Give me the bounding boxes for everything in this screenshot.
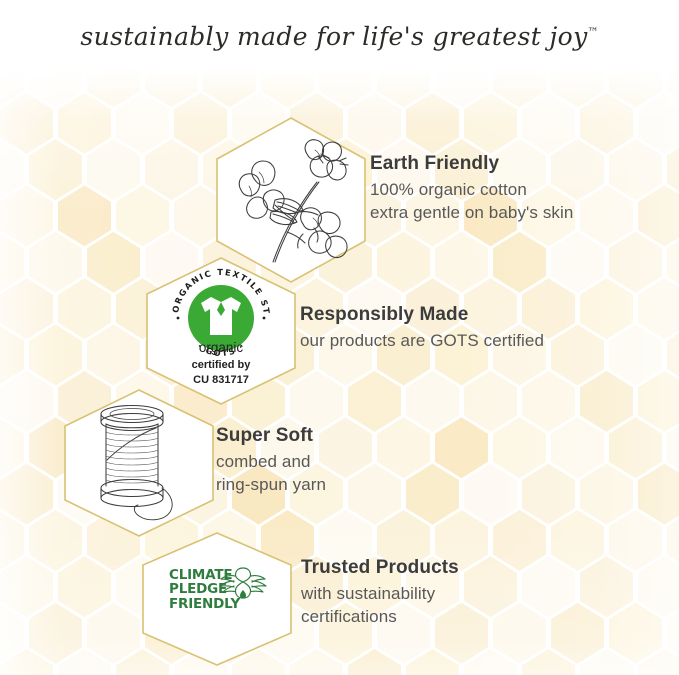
climate-pledge-wordmark: CLIMATE PLEDGE FRIENDLY: [169, 568, 240, 611]
gots-caption-block: organic certified by CU 831717: [146, 338, 296, 387]
feature-line: combed and: [216, 450, 326, 473]
cpf-line-1: CLIMATE: [169, 568, 240, 582]
feature-copy-responsibly-made: Responsibly Made our products are GOTS c…: [300, 303, 544, 352]
feature-copy-earth-friendly: Earth Friendly 100% organic cotton extra…: [370, 152, 573, 224]
gots-caption-certified-by: certified by: [146, 358, 296, 373]
feature-line: 100% organic cotton: [370, 178, 573, 201]
headline-text: sustainably made for life's greatest joy: [80, 22, 587, 51]
cpf-line-2: PLEDGE: [169, 582, 240, 596]
marketing-infographic: sustainably made for life's greatest joy…: [0, 0, 679, 675]
gots-caption-license-number: CU 831717: [146, 373, 296, 388]
feature-line: certifications: [301, 605, 459, 628]
feature-heading: Earth Friendly: [370, 152, 573, 176]
trademark-symbol: ™: [588, 26, 599, 39]
feature-copy-trusted-products: Trusted Products with sustainability cer…: [301, 556, 459, 628]
feature-heading: Responsibly Made: [300, 303, 544, 327]
cpf-line-3: FRIENDLY: [169, 597, 240, 611]
hexagon-frame-spool: [63, 388, 215, 538]
feature-line: extra gentle on baby's skin: [370, 201, 573, 224]
feature-heading: Trusted Products: [301, 556, 459, 580]
feature-heading: Super Soft: [216, 424, 326, 448]
feature-line: our products are GOTS certified: [300, 329, 544, 352]
feature-line: ring-spun yarn: [216, 473, 326, 496]
page-headline: sustainably made for life's greatest joy…: [0, 22, 679, 51]
feature-line: with sustainability: [301, 582, 459, 605]
gots-caption-organic: organic: [146, 338, 296, 358]
feature-copy-super-soft: Super Soft combed and ring-spun yarn: [216, 424, 326, 496]
